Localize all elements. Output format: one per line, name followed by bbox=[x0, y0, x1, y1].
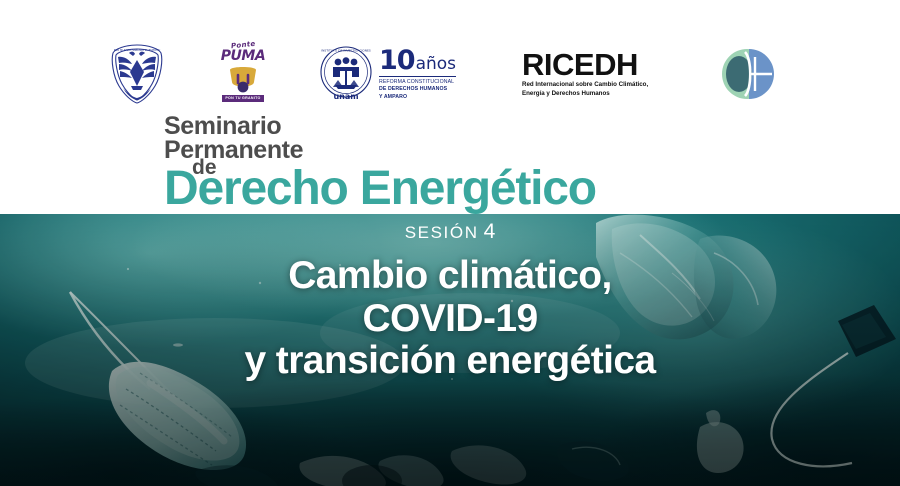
ricedh-sub-line1: Red Internacional sobre Cambio Climático… bbox=[522, 81, 648, 89]
wordmark-line-derecho-energetico: Derecho Energético bbox=[164, 165, 596, 213]
iij-number: 10 bbox=[379, 47, 415, 74]
svg-text:unam: unam bbox=[333, 92, 358, 101]
iij-unam-10-anios-logo: unam INSTITUTO DE INVESTIGACIONES 10 año… bbox=[318, 38, 486, 110]
wordmark-de: de bbox=[192, 157, 217, 178]
puma-tagline: PON TU GRANITO bbox=[222, 95, 263, 102]
svg-text:INSTITUTO DE INVESTIGACIONES: INSTITUTO DE INVESTIGACIONES bbox=[321, 49, 371, 53]
hero-title-line3: y transición energética bbox=[0, 340, 900, 383]
ponte-puma-logo: Ponte PUMA PON TU GRANITO bbox=[212, 38, 274, 110]
seminar-wordmark: Seminario Permanente Derecho Energético … bbox=[164, 114, 303, 209]
header-band: POR MI RAZA HABLARA EL ESPIRITU Ponte PU… bbox=[0, 0, 900, 214]
iij-anios-word: años bbox=[416, 56, 456, 73]
ricedh-wordmark: RICEDH bbox=[522, 50, 648, 79]
iij-seal-icon: unam INSTITUTO DE INVESTIGACIONES bbox=[318, 45, 374, 103]
wordmark-line-permanente: Permanente bbox=[164, 138, 303, 162]
hero-title: Cambio climático, COVID-19 y transición … bbox=[0, 255, 900, 383]
circular-mark-icon bbox=[719, 46, 775, 102]
session-word: SESIÓN bbox=[405, 223, 479, 242]
unam-shield-icon: POR MI RAZA HABLARA EL ESPIRITU bbox=[109, 42, 165, 106]
session-number: 4 bbox=[484, 220, 496, 243]
unam-shield-logo: POR MI RAZA HABLARA EL ESPIRITU bbox=[104, 38, 170, 110]
hero-title-line1: Cambio climático, bbox=[0, 255, 900, 298]
ricedh-sub-line2: Energía y Derechos Humanos bbox=[522, 90, 648, 98]
iij-sub-line2: DE DERECHOS HUMANOS bbox=[379, 86, 456, 94]
wordmark-line-seminario: Seminario bbox=[164, 114, 303, 138]
iij-sub-line3: Y AMPARO bbox=[379, 94, 456, 102]
puma-paw-icon bbox=[226, 64, 260, 94]
logo-strip: POR MI RAZA HABLARA EL ESPIRITU Ponte PU… bbox=[0, 38, 900, 110]
hero-title-line2: COVID-19 bbox=[0, 298, 900, 341]
session-label: SESIÓN4 bbox=[0, 221, 900, 242]
svg-text:POR MI RAZA HABLARA EL ESPIRIT: POR MI RAZA HABLARA EL ESPIRITU bbox=[114, 48, 161, 52]
iij-sub-line1: REFORMA CONSTITUCIONAL bbox=[379, 79, 456, 87]
puma-word-text: PUMA bbox=[221, 49, 265, 63]
seminar-banner: POR MI RAZA HABLARA EL ESPIRITU Ponte PU… bbox=[0, 0, 900, 486]
circular-mark-logo bbox=[716, 38, 778, 110]
ricedh-logo: RICEDH Red Internacional sobre Cambio Cl… bbox=[522, 38, 672, 110]
